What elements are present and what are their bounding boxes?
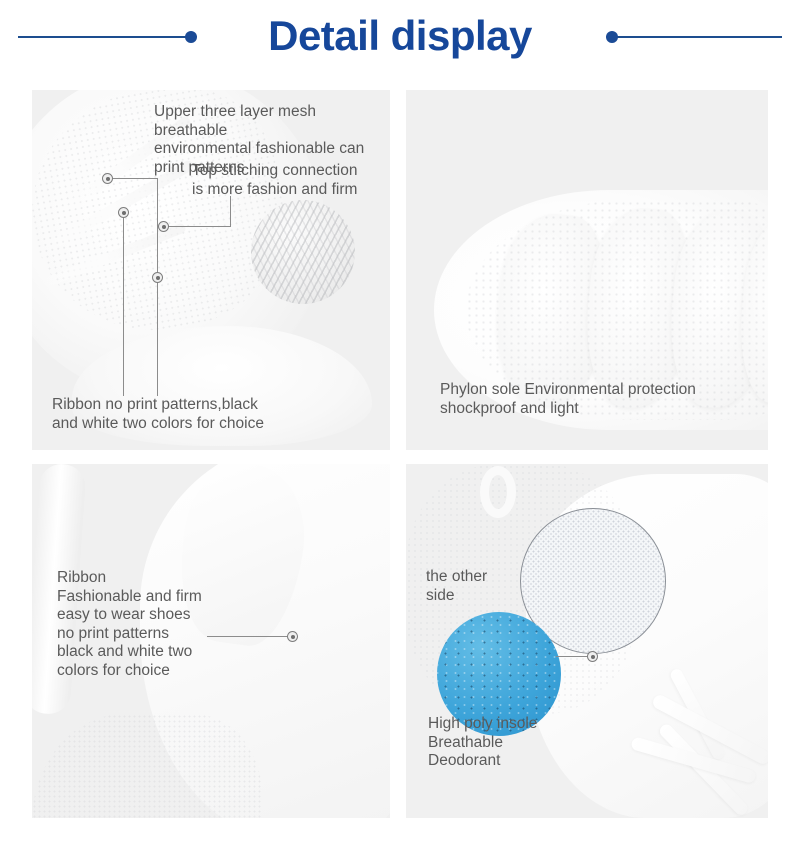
ribbon-detail-note: Ribbon Fashionable and firm easy to wear…	[57, 569, 257, 680]
insole-panel: the other side High poly insole Breathab…	[406, 464, 768, 818]
product-detail-page: Detail display Upper three layer mesh	[0, 0, 800, 853]
knit-texture	[32, 714, 262, 818]
ribbon-note: Ribbon no print patterns,black and white…	[52, 396, 312, 433]
stitch-zoom-circle	[251, 200, 355, 304]
leader-line	[164, 226, 230, 227]
leader-line	[157, 278, 158, 396]
callout-marker[interactable]	[287, 631, 298, 642]
page-title: Detail display	[0, 8, 800, 64]
leader-line	[123, 278, 124, 396]
upper-mesh-panel: Upper three layer mesh breathable enviro…	[32, 90, 390, 450]
leader-line	[112, 178, 158, 179]
heel-pull-loop	[480, 466, 516, 518]
callout-marker[interactable]	[152, 272, 163, 283]
callout-marker[interactable]	[158, 221, 169, 232]
stitch-texture	[251, 200, 355, 304]
callout-marker[interactable]	[587, 651, 598, 662]
high-poly-insole-note: High poly insole Breathable Deodorant	[428, 715, 628, 771]
other-side-note: the other side	[426, 568, 536, 605]
phylon-sole-note: Phylon sole Environmental protection sho…	[440, 381, 760, 418]
callout-marker[interactable]	[118, 207, 129, 218]
top-stitching-note: Top stitching connection is more fashion…	[192, 162, 390, 199]
leader-line	[230, 196, 231, 227]
phylon-sole-panel: Phylon sole Environmental protection sho…	[406, 90, 768, 450]
callout-marker[interactable]	[102, 173, 113, 184]
page-header: Detail display	[0, 0, 800, 82]
leader-line	[123, 217, 124, 278]
ribbon-collar-panel: Ribbon Fashionable and firm easy to wear…	[32, 464, 390, 818]
